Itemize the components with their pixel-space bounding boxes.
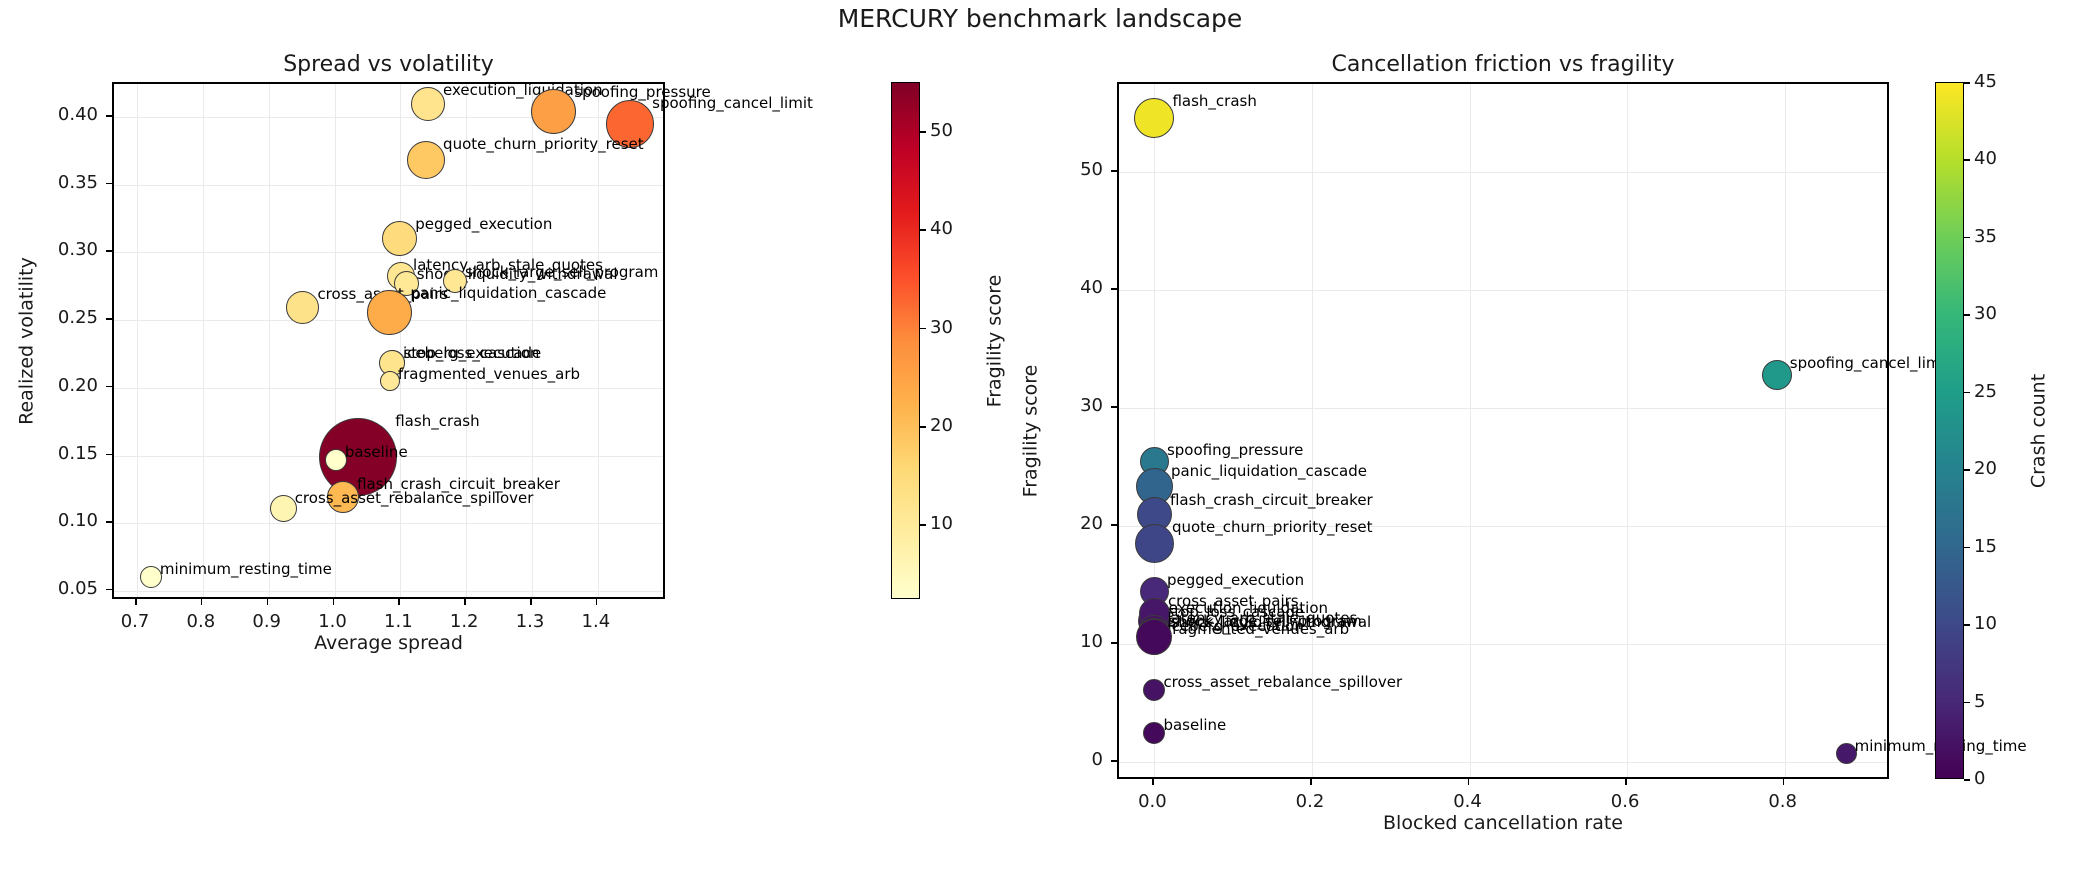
scatter-point-label: flash_crash_circuit_breaker — [1170, 493, 1373, 508]
gridline-horizontal — [1119, 408, 1887, 409]
y-tick-mark — [1111, 642, 1117, 644]
x-tick-mark — [1625, 779, 1627, 785]
colorbar-tick-mark — [1964, 82, 1970, 84]
x-tick-mark — [1310, 779, 1312, 785]
scatter-point[interactable] — [1143, 722, 1165, 744]
colorbar-tick-label: 25 — [1974, 381, 2034, 402]
colorbar-tick-label: 20 — [1974, 458, 2034, 479]
y-axis-label: Fragility score — [1019, 82, 1041, 779]
scatter-point-label: cross_asset_pairs — [1168, 594, 1299, 609]
gridline-horizontal — [1119, 290, 1887, 291]
gridline-vertical — [1154, 84, 1155, 777]
scatter-point-label: pegged_execution — [1167, 573, 1304, 588]
axes-title: Cancellation friction vs fragility — [1117, 52, 1889, 77]
colorbar-tick-label: 40 — [1974, 148, 2034, 169]
colorbar-tick-mark — [1964, 779, 1970, 781]
gridline-horizontal — [1119, 644, 1887, 645]
y-tick-mark — [1111, 288, 1117, 290]
scatter-point-label: flash_crash — [1172, 94, 1256, 109]
x-axis-label: Blocked cancellation rate — [1117, 812, 1889, 834]
colorbar-tick-label: 30 — [1974, 303, 2034, 324]
scatter-point[interactable] — [1136, 619, 1172, 655]
scatter-point[interactable] — [1135, 524, 1174, 563]
colorbar-tick-label: 35 — [1974, 226, 2034, 247]
colorbar-tick-mark — [1964, 159, 1970, 161]
scatter-point[interactable] — [1134, 98, 1174, 138]
colorbar-tick-mark — [1964, 702, 1970, 704]
colorbar-label: Crash count — [2027, 82, 2049, 779]
colorbar-tick-label: 0 — [1974, 768, 2034, 789]
scatter-point-label: quote_churn_priority_reset — [1172, 520, 1373, 535]
scatter-point[interactable] — [1143, 679, 1165, 701]
colorbar-tick-label: 10 — [1974, 613, 2034, 634]
scatter-point-label: spoofing_cancel_limit — [1790, 356, 1951, 371]
scatter-point-label: baseline — [1163, 718, 1226, 733]
x-tick-mark — [1468, 779, 1470, 785]
scatter-point[interactable] — [1836, 743, 1857, 764]
figure-root: MERCURY benchmark landscape Spread vs vo… — [0, 0, 2080, 880]
y-tick-mark — [1111, 406, 1117, 408]
scatter-point[interactable] — [1762, 360, 1792, 390]
colorbar — [1935, 82, 1964, 779]
colorbar-tick-mark — [1964, 237, 1970, 239]
x-tick-label: 0.8 — [1733, 791, 1833, 812]
x-tick-label: 0.2 — [1260, 791, 1360, 812]
scatter-point-label: spoofing_pressure — [1167, 443, 1303, 458]
colorbar-tick-mark — [1964, 314, 1970, 316]
x-tick-mark — [1783, 779, 1785, 785]
colorbar-tick-mark — [1964, 624, 1970, 626]
gridline-vertical — [1470, 84, 1471, 777]
plot-area: flash_crashspoofing_cancel_limitspoofing… — [1117, 82, 1889, 779]
gridline-horizontal — [1119, 762, 1887, 763]
gridline-vertical — [1627, 84, 1628, 777]
scatter-point-label: shock_liquidity_withdrawal — [1170, 615, 1371, 630]
x-tick-mark — [1152, 779, 1154, 785]
colorbar-tick-label: 15 — [1974, 536, 2034, 557]
colorbar-tick-mark — [1964, 469, 1970, 471]
chart-panel-cancellation-friction-vs-fragility: Cancellation friction vs fragilityflash_… — [0, 0, 2080, 880]
x-tick-label: 0.0 — [1102, 791, 1202, 812]
gridline-vertical — [1785, 84, 1786, 777]
y-tick-mark — [1111, 524, 1117, 526]
x-tick-label: 0.4 — [1418, 791, 1518, 812]
colorbar-tick-label: 5 — [1974, 691, 2034, 712]
y-tick-mark — [1111, 170, 1117, 172]
scatter-point-label: cross_asset_rebalance_spillover — [1163, 675, 1402, 690]
scatter-point-label: panic_liquidation_cascade — [1171, 464, 1367, 479]
colorbar-tick-mark — [1964, 547, 1970, 549]
gridline-horizontal — [1119, 172, 1887, 173]
colorbar-tick-label: 45 — [1974, 71, 2034, 92]
colorbar-tick-mark — [1964, 392, 1970, 394]
x-tick-label: 0.6 — [1575, 791, 1675, 812]
y-tick-mark — [1111, 760, 1117, 762]
